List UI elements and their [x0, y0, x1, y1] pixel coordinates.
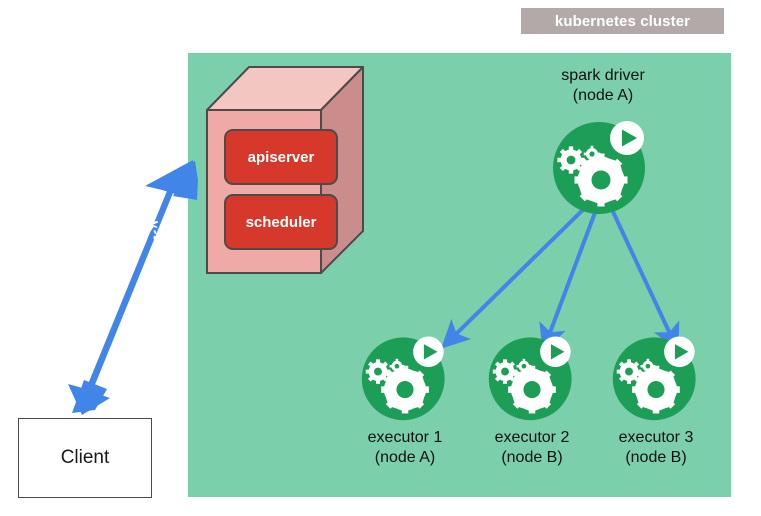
executor-2-title: executor 2 [462, 428, 602, 448]
executor-3-title: executor 3 [586, 428, 726, 448]
executor-2-node [487, 332, 577, 422]
executor-2-caption: executor 2 (node B) [462, 428, 602, 468]
executor-1-title: executor 1 [335, 428, 475, 448]
diagram-canvas: kubernetes cluster spark-submit Client a… [0, 0, 761, 516]
executor-2-subtitle: (node B) [462, 448, 602, 468]
spark-submit-arrow [55, 160, 215, 415]
client-box: Client [18, 418, 152, 498]
executor-1-subtitle: (node A) [335, 448, 475, 468]
executor-1-caption: executor 1 (node A) [335, 428, 475, 468]
spark-driver-subtitle: (node A) [533, 86, 673, 106]
spark-driver-caption: spark driver (node A) [533, 66, 673, 106]
executor-3-subtitle: (node B) [586, 448, 726, 468]
component-apiserver: apiserver [224, 129, 338, 185]
executor-3-caption: executor 3 (node B) [586, 428, 726, 468]
component-scheduler: scheduler [224, 194, 338, 250]
executor-1-node [360, 332, 450, 422]
spark-driver-node [551, 116, 651, 216]
spark-driver-title: spark driver [533, 66, 673, 86]
kubernetes-cluster-banner: kubernetes cluster [521, 8, 724, 34]
control-plane-cube: apiserver scheduler [206, 66, 364, 274]
control-plane-components: apiserver scheduler [224, 129, 338, 250]
executor-3-node [611, 332, 701, 422]
